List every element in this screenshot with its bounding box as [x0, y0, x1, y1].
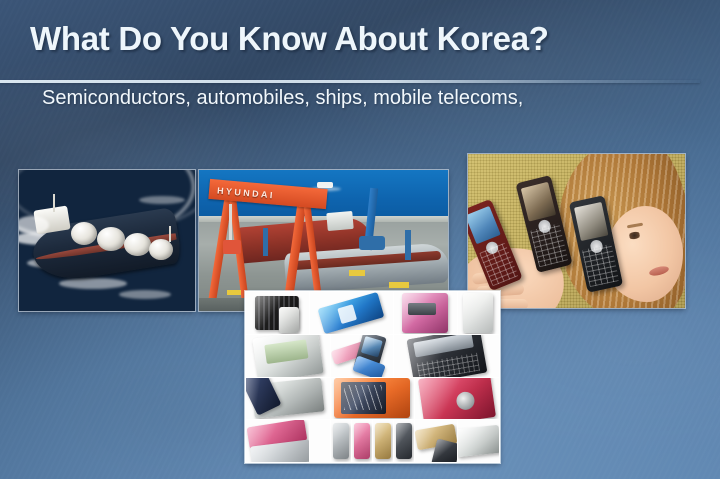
orange-touch-phone [334, 378, 410, 418]
collage-cell [394, 420, 414, 462]
collage-cell [331, 420, 351, 462]
phone-screen [468, 206, 501, 244]
collage-grid [245, 291, 500, 463]
lng-dome [124, 233, 151, 256]
collage-cell [331, 378, 415, 420]
presentation-slide: What Do You Know About Korea? Semiconduc… [0, 0, 720, 479]
collage-cell [352, 420, 372, 462]
lng-tanker-photo [19, 170, 195, 311]
gloss [333, 423, 349, 459]
phone-screen [574, 202, 608, 240]
ship-mast [169, 226, 171, 242]
gloss [279, 307, 299, 333]
collage-cell [458, 292, 499, 334]
blue-mp3-player [318, 292, 385, 334]
red-clamshell-phone [418, 378, 496, 420]
lng-dome [97, 227, 125, 251]
lng-dome [149, 239, 173, 260]
dark-candybar-phone [396, 423, 412, 459]
gloss [463, 293, 493, 333]
collage-cell [394, 292, 457, 334]
gloss [354, 423, 370, 459]
collage-cell [331, 335, 394, 377]
collage-cell [458, 420, 499, 462]
crane-hook-block [223, 240, 241, 254]
yard-crane [405, 230, 411, 260]
pink-slide-phone [402, 293, 448, 333]
phone-screen [521, 182, 556, 221]
phone-screen [408, 303, 437, 315]
collage-cell [415, 378, 499, 420]
crane-hoist-cable [229, 204, 232, 242]
foam-patch [139, 196, 185, 204]
lng-dome [71, 222, 97, 245]
phone-keypad [582, 244, 619, 288]
mobile-phones-photo [468, 154, 685, 308]
gloss [406, 335, 487, 377]
hyundai-shipyard-photo: HYUNDAI [199, 170, 448, 311]
yard-equipment [389, 282, 409, 288]
pink-candybar-phone [354, 423, 370, 459]
collage-cell [246, 292, 309, 334]
gloss [396, 423, 412, 459]
collage-cell [246, 420, 309, 462]
slide-title: What Do You Know About Korea? [30, 20, 690, 58]
ship-mast [53, 194, 55, 212]
product-collage-photo [245, 291, 500, 463]
gloss [458, 425, 499, 457]
gloss [418, 378, 496, 420]
gloss [375, 423, 391, 459]
navy-qwerty-phone [406, 335, 487, 377]
foam-patch [59, 278, 127, 289]
gloss [334, 378, 410, 418]
white-flip-phone [458, 425, 499, 457]
title-divider-rule [0, 80, 700, 83]
grey-candybar-phone [333, 423, 349, 459]
white-accessory [279, 307, 299, 333]
slide-subtitle: Semiconductors, automobiles, ships, mobi… [42, 87, 523, 110]
collage-cell [373, 420, 393, 462]
yard-equipment [349, 270, 365, 276]
phone-keypad [530, 223, 568, 268]
vessel-superstructure [326, 211, 353, 231]
yard-equipment [227, 290, 241, 295]
gold-candybar-phone [375, 423, 391, 459]
collage-cell [246, 335, 330, 377]
collage-cell [246, 378, 330, 420]
collage-cell [310, 420, 330, 462]
yard-crane [263, 228, 268, 256]
collage-cell [415, 420, 456, 462]
foam-patch [119, 290, 171, 299]
collage-cell [310, 292, 394, 334]
white-bar-phone [252, 335, 323, 377]
white-device [463, 293, 493, 333]
jib-crane-cab [359, 236, 385, 250]
collage-cell [394, 335, 499, 377]
